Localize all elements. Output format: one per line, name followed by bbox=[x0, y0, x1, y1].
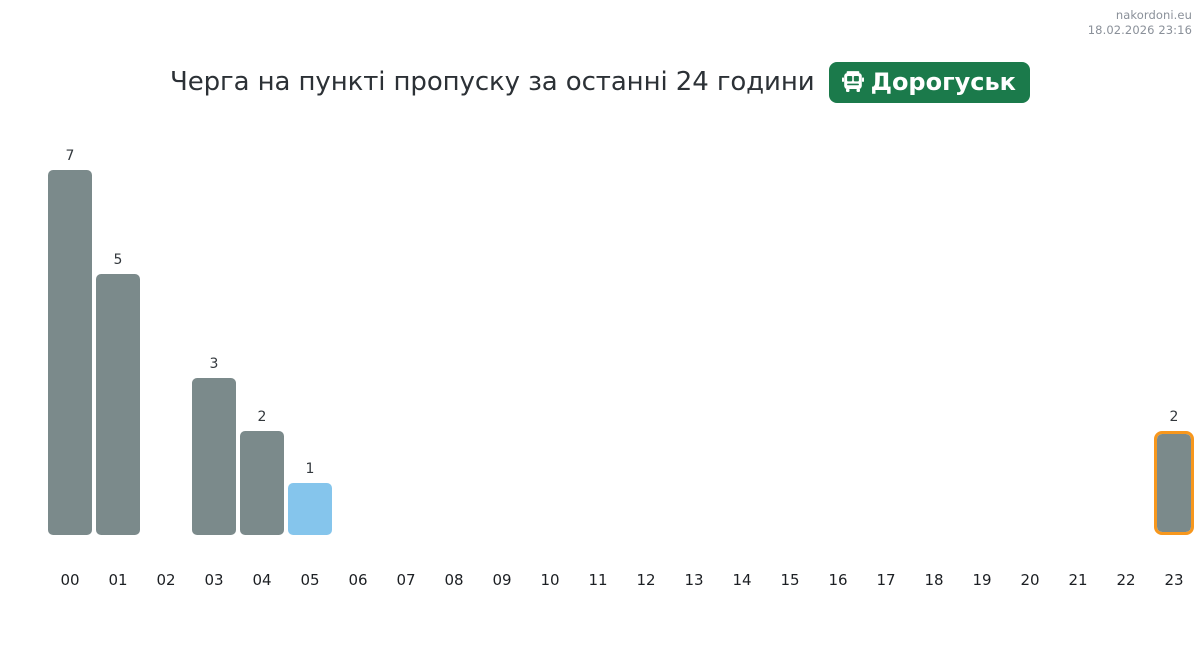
bar-value-label-03: 3 bbox=[182, 356, 246, 372]
bar-01[interactable] bbox=[96, 274, 140, 535]
bar-value-label-04: 2 bbox=[230, 409, 294, 425]
chart-page: nakordoni.eu 18.02.2026 23:16 Черга на п… bbox=[0, 0, 1200, 651]
bar-value-label-00: 7 bbox=[38, 148, 102, 164]
bar-chart-plot: 7005010230320410506070809101112131415161… bbox=[0, 0, 1200, 651]
bar-00[interactable] bbox=[48, 170, 92, 535]
bar-03[interactable] bbox=[192, 378, 236, 535]
bar-23[interactable] bbox=[1154, 431, 1194, 535]
x-tick-label-23: 23 bbox=[1146, 571, 1200, 590]
bar-04[interactable] bbox=[240, 431, 284, 535]
bar-value-label-01: 5 bbox=[86, 252, 150, 268]
bar-value-label-23: 2 bbox=[1142, 409, 1200, 425]
bar-value-label-05: 1 bbox=[278, 461, 342, 477]
bar-05[interactable] bbox=[288, 483, 332, 535]
